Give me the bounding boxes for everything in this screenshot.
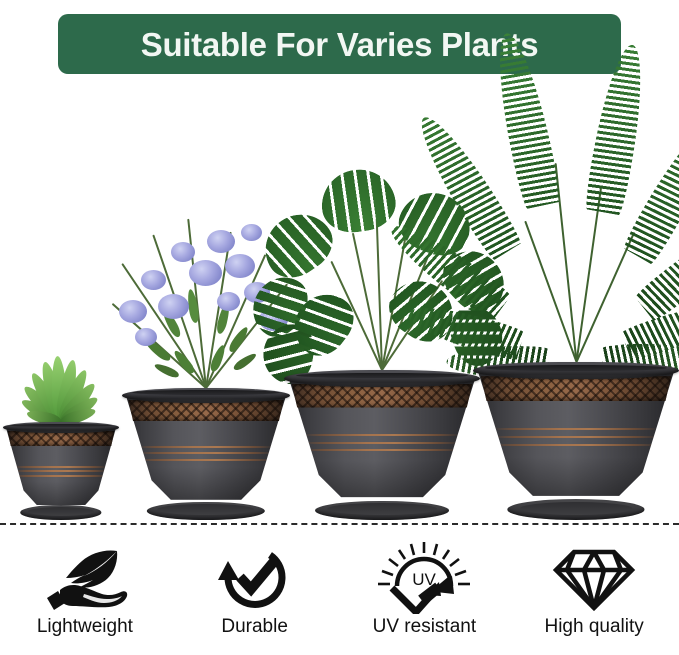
pot-stripe <box>494 428 659 430</box>
feature-label: UV resistant <box>373 616 476 638</box>
pot-lattice-band <box>128 400 283 421</box>
planter-pot-2 <box>126 388 286 520</box>
pot-lattice-band <box>8 431 115 447</box>
product-infographic: Suitable For Varies Plants <box>0 0 679 655</box>
pot-saucer <box>147 502 265 520</box>
feature-row: Lightweight Durable <box>0 534 679 655</box>
feature-high-quality: High quality <box>509 534 679 655</box>
checkmark-circle-arrow-icon <box>218 540 292 614</box>
pot-rim <box>122 388 290 403</box>
pot-stripe <box>15 470 107 472</box>
flower-cluster <box>135 328 157 346</box>
feature-label: High quality <box>544 616 643 638</box>
pot-stripe <box>304 442 460 444</box>
header-banner: Suitable For Varies Plants <box>58 14 621 74</box>
feature-durable: Durable <box>170 534 340 655</box>
pot-saucer <box>507 499 644 520</box>
flower-cluster <box>241 224 262 241</box>
planter-pot-3 <box>289 370 475 520</box>
monstera-leaf <box>317 165 399 237</box>
flower-cluster <box>217 292 240 311</box>
pot-stripe <box>139 452 273 454</box>
pot-group-4 <box>478 362 674 520</box>
dashed-divider <box>0 523 679 525</box>
saucer-inner <box>28 507 95 516</box>
feature-uv-resistant: UV UV resistant <box>340 534 510 655</box>
flower-cluster <box>119 300 147 323</box>
pot-lattice-band <box>292 384 472 408</box>
feature-lightweight: Lightweight <box>0 534 170 655</box>
flower-cluster <box>207 230 235 253</box>
pot-saucer <box>315 501 449 521</box>
leaf <box>153 362 180 380</box>
planter-pot-4 <box>478 362 674 520</box>
pot-rim <box>284 370 479 387</box>
flower-cluster <box>225 254 255 278</box>
pot-group-1 <box>6 422 116 520</box>
hand-feather-icon <box>39 540 131 614</box>
banner-background: Suitable For Varies Plants <box>58 14 621 74</box>
pot-stripe <box>15 475 107 477</box>
feature-label: Durable <box>221 616 288 638</box>
leaf <box>232 351 258 372</box>
uv-sun-shield-icon: UV <box>374 540 474 614</box>
flower-cluster <box>171 242 195 262</box>
pot-stripe <box>304 434 460 436</box>
pot-group-3 <box>289 370 475 520</box>
saucer-inner <box>157 504 254 515</box>
flower-cluster <box>158 294 189 319</box>
pot-group-2 <box>126 388 286 520</box>
pot-stripe <box>494 436 659 438</box>
pot-stripe <box>15 466 107 468</box>
flower-cluster <box>189 260 222 286</box>
banner-title: Suitable For Varies Plants <box>141 28 539 61</box>
saucer-inner <box>520 502 632 515</box>
pot-stripe <box>139 446 273 448</box>
product-scene <box>0 84 679 520</box>
planter-pot-1 <box>6 422 116 520</box>
pot-stripe <box>139 459 273 461</box>
pot-saucer <box>20 505 101 520</box>
pot-lattice-band <box>481 376 671 401</box>
pot-rim <box>473 362 679 379</box>
pot-rim <box>3 422 119 433</box>
plant-areca-palm <box>469 110 679 362</box>
feature-label: Lightweight <box>37 616 133 638</box>
pot-stripe <box>304 449 460 451</box>
pot-stripe <box>494 444 659 446</box>
saucer-inner <box>327 503 437 515</box>
plant-peace-lily <box>6 336 116 422</box>
diamond-icon <box>552 540 636 614</box>
flower-cluster <box>141 270 166 290</box>
